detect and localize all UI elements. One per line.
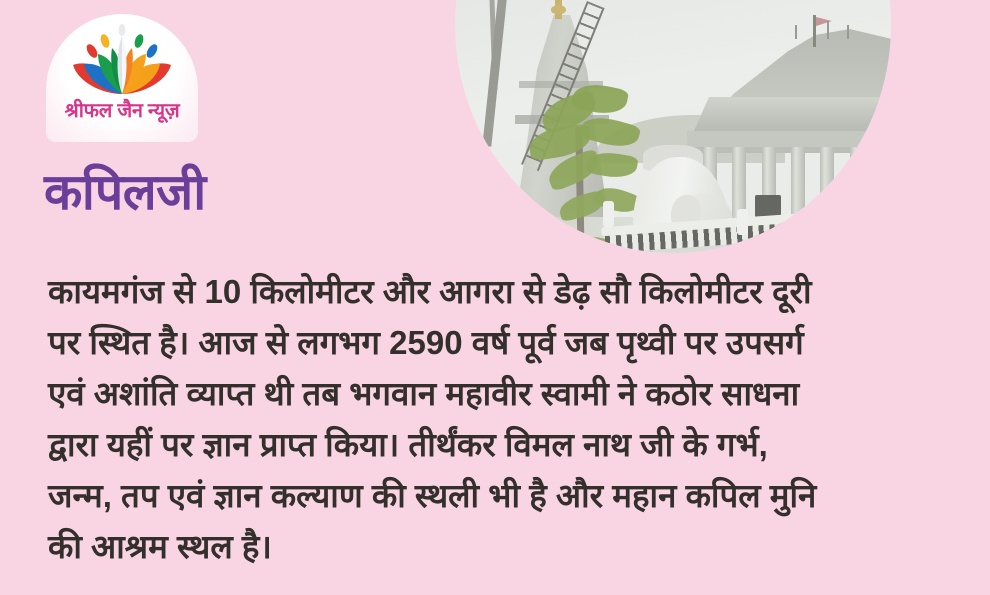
article-line: द्वारा यहीं पर ज्ञान प्राप्त किया। तीर्थ… (48, 419, 943, 470)
article-line: कायमगंज से 10 किलोमीटर और आगरा से डेढ़ स… (48, 266, 943, 317)
article-body: कायमगंज से 10 किलोमीटर और आगरा से डेढ़ स… (48, 266, 943, 572)
article-line-text: एवं अशांति व्याप्त थी तब भगवान महावीर स्… (48, 368, 799, 419)
news-card: श्रीफल जैन न्यूज़ कपिलजी कायमगंज से 10 क… (0, 0, 990, 595)
article-line: की आश्रम स्थल है। (48, 521, 943, 572)
article-line-text: पर स्थित है। आज से लगभग 2590 वर्ष पूर्व … (48, 317, 804, 368)
article-line-text: द्वारा यहीं पर ज्ञान प्राप्त किया। तीर्थ… (48, 419, 768, 470)
photo-haze-overlay (455, 0, 891, 253)
logo-brand-text: श्रीफल जैन न्यूज़ (46, 96, 198, 123)
article-line-text: जन्म, तप एवं ज्ञान कल्याण की स्थली भी है… (48, 470, 816, 521)
article-line-text: की आश्रम स्थल है। (48, 528, 272, 565)
article-line: एवं अशांति व्याप्त थी तब भगवान महावीर स्… (48, 368, 943, 419)
article-line: जन्म, तप एवं ज्ञान कल्याण की स्थली भी है… (48, 470, 943, 521)
article-line-text: कायमगंज से 10 किलोमीटर और आगरा से डेढ़ स… (48, 266, 812, 317)
lotus-icon (62, 24, 182, 98)
article-line: पर स्थित है। आज से लगभग 2590 वर्ष पूर्व … (48, 317, 943, 368)
shreephal-jain-news-logo[interactable]: श्रीफल जैन न्यूज़ (46, 14, 198, 142)
page-title: कपिलजी (44, 166, 206, 219)
jain-temple-photo (455, 0, 891, 253)
